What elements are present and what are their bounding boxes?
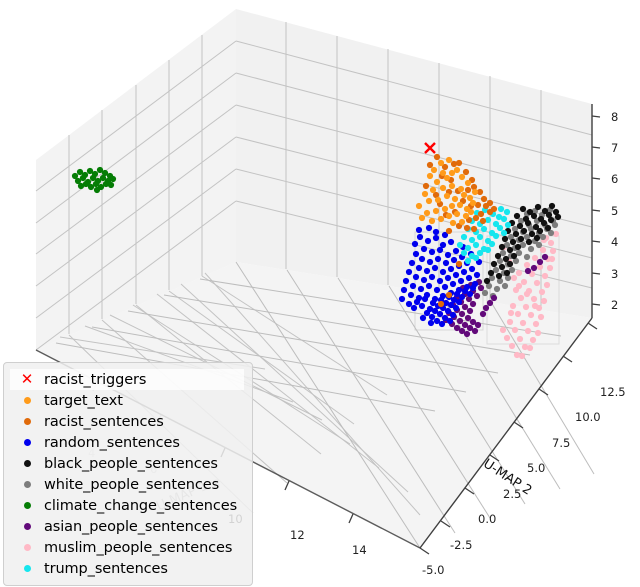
legend-label: asian_people_sentences bbox=[44, 519, 218, 535]
y-tick-neg5-0: -5.0 bbox=[422, 563, 444, 577]
legend-label: white_people_sentences bbox=[44, 477, 219, 493]
legend-label: climate_change_sentences bbox=[44, 498, 237, 514]
z-tick-7: 7 bbox=[611, 141, 618, 155]
dot-marker-icon bbox=[10, 432, 44, 453]
legend-label: black_people_sentences bbox=[44, 456, 218, 472]
dot-marker-icon bbox=[10, 558, 44, 579]
y-tick-7-5: 7.5 bbox=[552, 436, 570, 450]
dot-marker-icon bbox=[10, 516, 44, 537]
z-tick-8: 8 bbox=[611, 110, 618, 124]
legend-item-black-people-sentences[interactable]: black_people_sentences bbox=[10, 453, 244, 474]
plot-figure: 8 7 6 5 4 3 2 12.5 10.0 7.5 5.0 2.5 0.0 … bbox=[0, 0, 640, 587]
legend-item-random-sentences[interactable]: random_sentences bbox=[10, 432, 244, 453]
dot-marker-icon bbox=[10, 474, 44, 495]
legend-label: muslim_people_sentences bbox=[44, 540, 232, 556]
dot-marker-icon bbox=[10, 390, 44, 411]
z-tick-3: 3 bbox=[611, 267, 618, 281]
legend-label: racist_sentences bbox=[44, 414, 164, 430]
legend-item-muslim-people-sentences[interactable]: muslim_people_sentences bbox=[10, 537, 244, 558]
y-tick-12-5: 12.5 bbox=[600, 385, 626, 399]
legend-label: target_text bbox=[44, 393, 123, 409]
legend-label: racist_triggers bbox=[44, 372, 146, 388]
legend-label: random_sentences bbox=[44, 435, 180, 451]
z-tick-4: 4 bbox=[611, 235, 618, 249]
z-tick-5: 5 bbox=[611, 204, 618, 218]
y-tick-5-0: 5.0 bbox=[527, 461, 545, 475]
legend-item-racist-sentences[interactable]: racist_sentences bbox=[10, 411, 244, 432]
z-tick-2: 2 bbox=[611, 298, 618, 312]
y-tick-10-0: 10.0 bbox=[575, 410, 601, 424]
legend-item-climate-change-sentences[interactable]: climate_change_sentences bbox=[10, 495, 244, 516]
dot-marker-icon bbox=[10, 537, 44, 558]
y-tick-neg2-5: -2.5 bbox=[450, 538, 472, 552]
dot-marker-icon bbox=[10, 453, 44, 474]
x-tick-12: 12 bbox=[290, 528, 305, 542]
legend-item-racist-triggers[interactable]: ✕racist_triggers bbox=[10, 369, 244, 390]
dot-marker-icon bbox=[10, 495, 44, 516]
dot-marker-icon bbox=[10, 411, 44, 432]
legend-label: trump_sentences bbox=[44, 561, 168, 577]
x-tick-14: 14 bbox=[352, 543, 367, 557]
x-marker-icon: ✕ bbox=[10, 369, 44, 390]
legend-item-asian-people-sentences[interactable]: asian_people_sentences bbox=[10, 516, 244, 537]
legend-item-white-people-sentences[interactable]: white_people_sentences bbox=[10, 474, 244, 495]
z-tick-6: 6 bbox=[611, 172, 618, 186]
legend-item-target-text[interactable]: target_text bbox=[10, 390, 244, 411]
legend[interactable]: ✕racist_triggerstarget_textracist_senten… bbox=[3, 362, 253, 586]
y-tick-0-0: 0.0 bbox=[478, 512, 496, 526]
legend-item-trump-sentences[interactable]: trump_sentences bbox=[10, 558, 244, 579]
